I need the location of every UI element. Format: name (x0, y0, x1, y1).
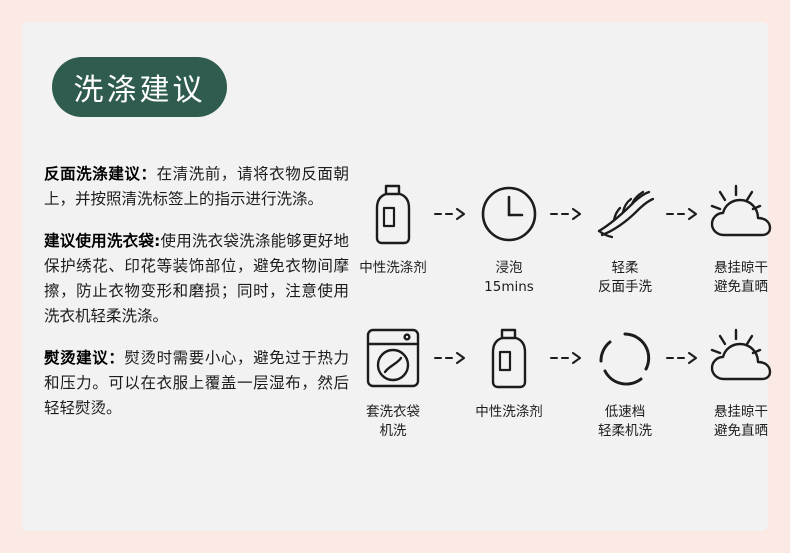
arrow-icon (434, 321, 468, 395)
advice-lead: 建议使用洗衣袋: (44, 232, 160, 250)
care-step-caption: 悬挂晾干 避免直晒 (714, 259, 768, 297)
advice-text-column: 反面洗涤建议：在清洗前，请将衣物反面朝上，并按照清洗标签上的指示进行洗涤。 建议… (44, 162, 349, 438)
arrow-icon (550, 321, 584, 395)
care-step: 轻柔 反面手洗 (584, 177, 666, 297)
advice-lead: 反面洗涤建议： (44, 165, 157, 183)
advice-lead: 熨烫建议： (44, 349, 124, 367)
care-step: 浸泡 15mins (468, 177, 550, 297)
care-step-caption: 浸泡 15mins (484, 259, 534, 297)
care-step-caption: 悬挂晾干 避免直晒 (714, 403, 768, 441)
detergent-bottle-icon (370, 177, 416, 251)
care-step-caption: 中性洗涤剂 (359, 259, 427, 278)
care-icon-row: 中性洗涤剂 (352, 177, 782, 297)
section-title-badge: 洗涤建议 (52, 57, 227, 117)
advice-paragraph: 熨烫建议：熨烫时需要小心，避免过于热力和压力。可以在衣服上覆盖一层湿布，然后轻轻… (44, 346, 349, 421)
advice-paragraph: 反面洗涤建议：在清洗前，请将衣物反面朝上，并按照清洗标签上的指示进行洗涤。 (44, 162, 349, 212)
care-step: 套洗衣袋 机洗 (352, 321, 434, 441)
page-root: 洗涤建议 反面洗涤建议：在清洗前，请将衣物反面朝上，并按照清洗标签上的指示进行洗… (0, 0, 790, 553)
care-step: 低速档 轻柔机洗 (584, 321, 666, 441)
care-step-caption: 低速档 轻柔机洗 (598, 403, 652, 441)
arrow-icon (666, 177, 700, 251)
care-step: 悬挂晾干 避免直晒 (700, 321, 782, 441)
clock-icon (478, 177, 540, 251)
arrow-icon (666, 321, 700, 395)
care-step-caption: 轻柔 反面手洗 (598, 259, 652, 297)
washing-machine-icon (363, 321, 423, 395)
detergent-bottle-icon (486, 321, 532, 395)
care-icon-row: 套洗衣袋 机洗 (352, 321, 782, 441)
low-spin-icon (596, 321, 654, 395)
sun-cloud-icon (706, 321, 776, 395)
care-step: 中性洗涤剂 (352, 177, 434, 278)
hand-wash-icon (593, 177, 657, 251)
care-step-caption: 套洗衣袋 机洗 (366, 403, 420, 441)
arrow-icon (550, 177, 584, 251)
page-title: 洗涤建议 (74, 65, 206, 109)
sun-cloud-icon (706, 177, 776, 251)
arrow-icon (434, 177, 468, 251)
care-step: 中性洗涤剂 (468, 321, 550, 422)
advice-paragraph: 建议使用洗衣袋:使用洗衣袋洗涤能够更好地保护绣花、印花等装饰部位，避免衣物间摩擦… (44, 229, 349, 329)
care-step: 悬挂晾干 避免直晒 (700, 177, 782, 297)
content-card: 洗涤建议 反面洗涤建议：在清洗前，请将衣物反面朝上，并按照清洗标签上的指示进行洗… (22, 22, 768, 531)
care-step-caption: 中性洗涤剂 (475, 403, 543, 422)
care-icon-area: 中性洗涤剂 (352, 177, 782, 465)
